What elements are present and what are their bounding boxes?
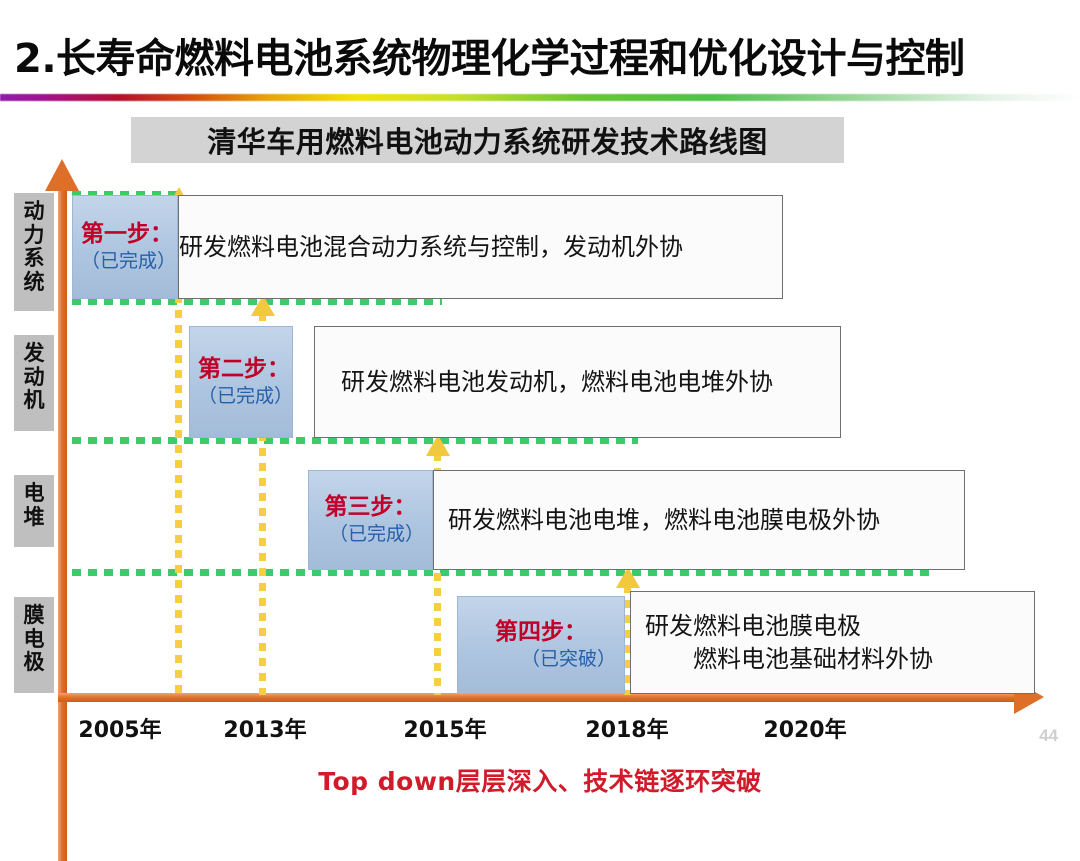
y-axis-line bbox=[58, 187, 67, 861]
page-title: 2.长寿命燃料电池系统物理化学过程和优化设计与控制 bbox=[14, 26, 965, 84]
grid-line-engine bbox=[72, 437, 638, 444]
roadmap-banner-label: 清华车用燃料电池动力系统研发技术路线图 bbox=[207, 119, 768, 161]
step-box-2[interactable]: 第二步： （已完成） bbox=[189, 326, 293, 438]
step-box-3[interactable]: 第三步： （已完成） bbox=[308, 470, 433, 570]
y-label-char: 电 bbox=[14, 482, 54, 506]
y-label-char: 统 bbox=[14, 271, 54, 295]
x-axis-line bbox=[58, 693, 1021, 702]
step-4-description-line-2: 燃料电池基础材料外协 bbox=[645, 643, 1034, 675]
x-tick-2005: 2005年 bbox=[78, 712, 161, 744]
y-label-char: 极 bbox=[14, 651, 54, 675]
step-1-status: （已完成） bbox=[81, 251, 169, 273]
step-1-description-line: 研发燃料电池混合动力系统与控制，发动机外协 bbox=[179, 231, 782, 263]
timeline-arrow-2018-icon bbox=[616, 567, 640, 588]
y-label-char: 机 bbox=[14, 389, 54, 413]
step-3-description-line: 研发燃料电池电堆，燃料电池膜电极外协 bbox=[448, 504, 964, 536]
y-label-char: 膜 bbox=[14, 604, 54, 628]
page-number: 44 bbox=[1039, 726, 1058, 746]
step-2-description-box[interactable]: 研发燃料电池发动机，燃料电池电堆外协 bbox=[314, 326, 841, 438]
step-4-description-box[interactable]: 研发燃料电池膜电极 燃料电池基础材料外协 bbox=[630, 591, 1035, 694]
y-label-char: 系 bbox=[14, 247, 54, 271]
step-3-description-box[interactable]: 研发燃料电池电堆，燃料电池膜电极外协 bbox=[433, 470, 965, 570]
x-tick-2015: 2015年 bbox=[403, 712, 486, 744]
y-label-char: 电 bbox=[14, 628, 54, 652]
step-2-description-line: 研发燃料电池发动机，燃料电池电堆外协 bbox=[341, 366, 840, 398]
y-label-char: 发 bbox=[14, 342, 54, 366]
step-4-label: 第四步： bbox=[466, 619, 616, 645]
y-category-stack: 电 堆 bbox=[14, 475, 54, 547]
step-box-1[interactable]: 第一步： （已完成） bbox=[72, 195, 178, 299]
grid-line-stack bbox=[72, 569, 932, 576]
step-4-description-line-1: 研发燃料电池膜电极 bbox=[645, 610, 1034, 642]
y-category-engine: 发 动 机 bbox=[14, 335, 54, 431]
x-tick-2018: 2018年 bbox=[585, 712, 668, 744]
step-4-status: （已突破） bbox=[466, 649, 616, 671]
roadmap-chart: 动 力 系 统 发 动 机 电 堆 膜 电 极 第一步： （已完成） 研发燃料电… bbox=[0, 165, 1080, 745]
step-3-label: 第三步： bbox=[317, 494, 424, 520]
step-2-status: （已完成） bbox=[198, 386, 284, 408]
timeline-arrow-2015-icon bbox=[426, 435, 450, 456]
roadmap-banner: 清华车用燃料电池动力系统研发技术路线图 bbox=[131, 117, 844, 163]
y-category-membrane-electrode: 膜 电 极 bbox=[14, 597, 54, 693]
y-label-char: 力 bbox=[14, 224, 54, 248]
y-label-char: 动 bbox=[14, 200, 54, 224]
step-box-4[interactable]: 第四步： （已突破） bbox=[457, 596, 625, 694]
y-axis-arrow-icon bbox=[45, 159, 79, 191]
y-label-char: 堆 bbox=[14, 506, 54, 530]
step-1-description-box[interactable]: 研发燃料电池混合动力系统与控制，发动机外协 bbox=[178, 195, 783, 299]
x-tick-2013: 2013年 bbox=[223, 712, 306, 744]
step-1-label: 第一步： bbox=[81, 221, 169, 247]
x-tick-2020: 2020年 bbox=[763, 712, 846, 744]
step-3-status: （已完成） bbox=[317, 524, 424, 546]
y-label-char: 动 bbox=[14, 366, 54, 390]
footer-caption: Top down层层深入、技术链逐环突破 bbox=[0, 762, 1080, 798]
step-2-label: 第二步： bbox=[198, 356, 284, 382]
rainbow-divider bbox=[0, 94, 1080, 101]
y-category-power-system: 动 力 系 统 bbox=[14, 193, 54, 311]
